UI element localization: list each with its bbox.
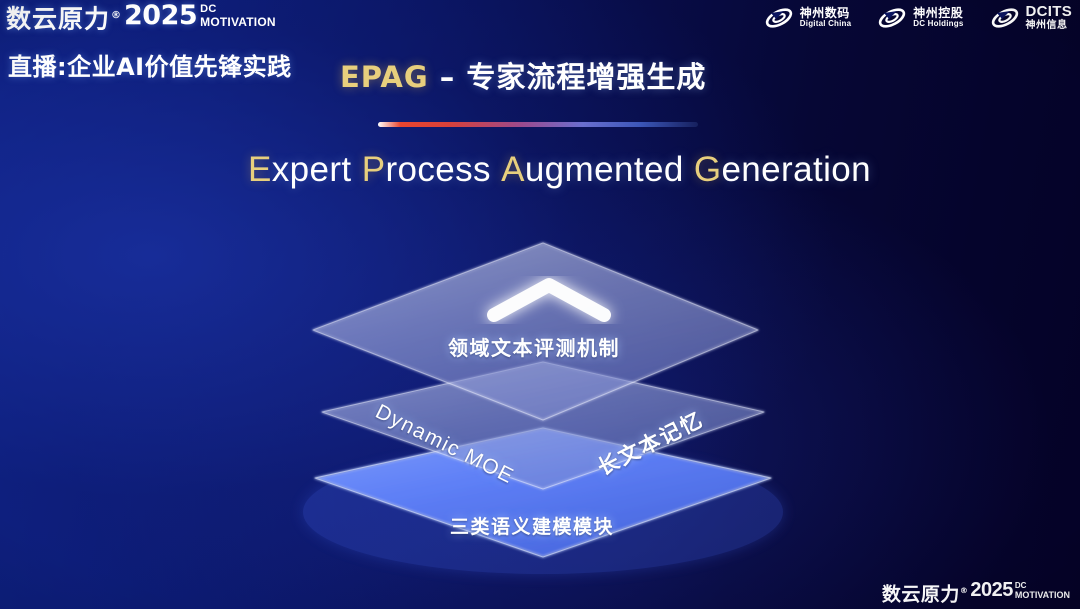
subtitle-cap-e: E [248, 150, 272, 189]
partner-text: 神州数码 Digital China [800, 7, 852, 29]
brand-dc-line1: DC [200, 4, 276, 15]
registered-mark: ® [111, 10, 122, 21]
watermark-dc-line2: MOTIVATION [1015, 591, 1070, 600]
partner-name-cn: 神州信息 [1026, 21, 1073, 32]
live-banner-text: 直播:企业AI价值先锋实践 [8, 47, 292, 82]
page-subtitle: Expert Process Augmented Generation [248, 150, 871, 190]
watermark-logo: 数云原力® 2025 DC MOTIVATION [882, 580, 1070, 605]
watermark-registered-mark: ® [960, 586, 969, 595]
partner-logo-group: 神州数码 Digital China 神州控股 DC Holdings [764, 4, 1072, 31]
brand-lockup: 数云原力® 2025 DC MOTIVATION [6, 2, 276, 33]
partner-text: 神州控股 DC Holdings [913, 7, 963, 29]
swirl-icon [990, 5, 1020, 31]
brand-dc-line2: MOTIVATION [200, 16, 276, 28]
slide-canvas: 数云原力® 2025 DC MOTIVATION 直播:企业AI价值先锋实践 神… [0, 0, 1080, 609]
partner-name-cn: 神州控股 [913, 7, 963, 20]
diagram-label-bottom: 三类语义建模模块 [450, 512, 614, 539]
page-title-separator: – [429, 60, 467, 94]
page-title: EPAG – 专家流程增强生成 [340, 54, 706, 96]
subtitle-cap-p: P [362, 150, 386, 189]
partner-name-en: Digital China [800, 20, 852, 28]
partner-logo-dcits: DCITS 神州信息 [990, 4, 1073, 31]
swirl-icon [877, 5, 907, 31]
partner-logo-dc-holdings: 神州控股 DC Holdings [877, 5, 963, 31]
partner-text: DCITS 神州信息 [1026, 4, 1073, 31]
subtitle-rest-expert: xpert [272, 150, 352, 189]
subtitle-cap-a: A [501, 150, 525, 189]
gradient-divider [378, 122, 698, 127]
partner-name-en: DC Holdings [913, 20, 963, 28]
subtitle-rest-process: rocess [385, 150, 491, 189]
subtitle-cap-g: G [694, 150, 722, 189]
page-title-acronym: EPAG [340, 60, 429, 94]
diagram-label-middle-right: 长文本记忆 [592, 404, 708, 482]
watermark-dc-motivation: DC MOTIVATION [1015, 582, 1070, 600]
brand-dc-motivation: DC MOTIVATION [200, 4, 276, 28]
watermark-dc-line1: DC [1015, 582, 1070, 590]
chevron-up-icon [494, 285, 604, 315]
brand-name-cn: 数云原力® [6, 2, 122, 33]
diagram-label-middle-left: Dynamic MOE [371, 400, 518, 489]
watermark-year: 2025 [970, 580, 1013, 601]
diagram-label-top: 领域文本评测机制 [448, 332, 620, 361]
partner-logo-digital-china: 神州数码 Digital China [764, 5, 852, 31]
brand-year: 2025 [124, 2, 197, 30]
subtitle-rest-augmented: ugmented [525, 150, 684, 189]
watermark-name-cn: 数云原力® [882, 580, 969, 605]
partner-name-cn: 神州数码 [800, 7, 852, 20]
subtitle-rest-generation: eneration [721, 150, 871, 189]
partner-name-en: DCITS [1026, 4, 1073, 20]
page-title-cn: 专家流程增强生成 [466, 60, 706, 94]
swirl-icon [764, 5, 794, 31]
